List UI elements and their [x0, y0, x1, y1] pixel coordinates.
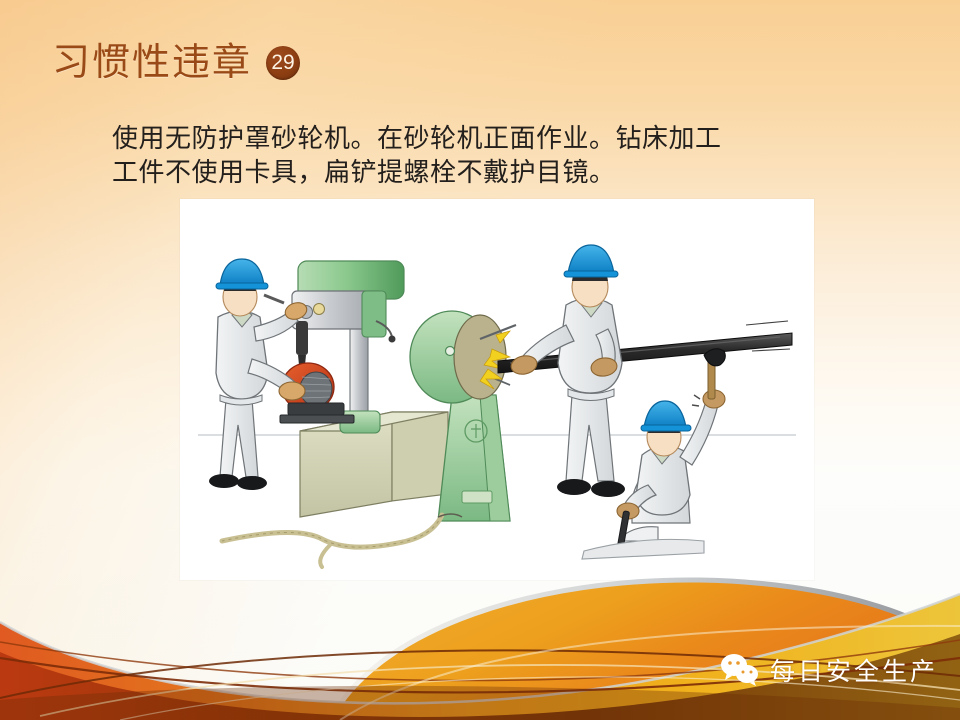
arm-raised — [680, 401, 718, 465]
illustration-svg — [180, 199, 814, 580]
safety-shoe — [237, 476, 267, 490]
feed-lever — [264, 295, 284, 303]
wave-bottom-shade — [0, 686, 960, 720]
watermark-text: 每日安全生产 — [770, 652, 938, 688]
wheel-hub — [446, 347, 455, 356]
steel-plate — [582, 539, 704, 559]
safety-shoe — [557, 479, 591, 495]
blue-helmet — [568, 245, 614, 273]
safety-shoe — [591, 481, 625, 497]
impact-marks — [692, 395, 700, 406]
floor-cable — [222, 515, 442, 547]
worker-bench-grinder — [509, 245, 625, 497]
status-badge: 29 — [266, 46, 300, 80]
wave-dome-highlight — [330, 580, 960, 720]
machine-label — [462, 491, 492, 503]
drill-spindle — [296, 321, 308, 355]
body-paragraph: 使用无防护罩砂轮机。在砂轮机正面作业。钻床加工 工件不使用卡具，扁铲提螺栓不戴护… — [112, 122, 872, 190]
cable-loop — [320, 545, 330, 567]
bare-hand-holding-workpiece — [279, 382, 305, 400]
body-line-2: 工件不使用卡具，扁铲提螺栓不戴护目镜。 — [112, 156, 872, 190]
wave-amber-dome — [330, 580, 960, 720]
illustration-panel — [180, 199, 814, 580]
watermark: 每日安全生产 — [720, 652, 938, 688]
page-title: 习惯性违章 — [52, 44, 252, 82]
wechat-icon — [720, 653, 760, 687]
blue-helmet — [220, 259, 264, 285]
safety-shoe — [209, 474, 239, 488]
body-line-1: 使用无防护罩砂轮机。在砂轮机正面作业。钻床加工 — [112, 122, 872, 156]
slide-header: 习惯性违章 29 — [52, 44, 300, 82]
slide-root: 习惯性违章 29 使用无防护罩砂轮机。在砂轮机正面作业。钻床加工 工件不使用卡具… — [0, 0, 960, 720]
blue-helmet — [644, 401, 686, 427]
